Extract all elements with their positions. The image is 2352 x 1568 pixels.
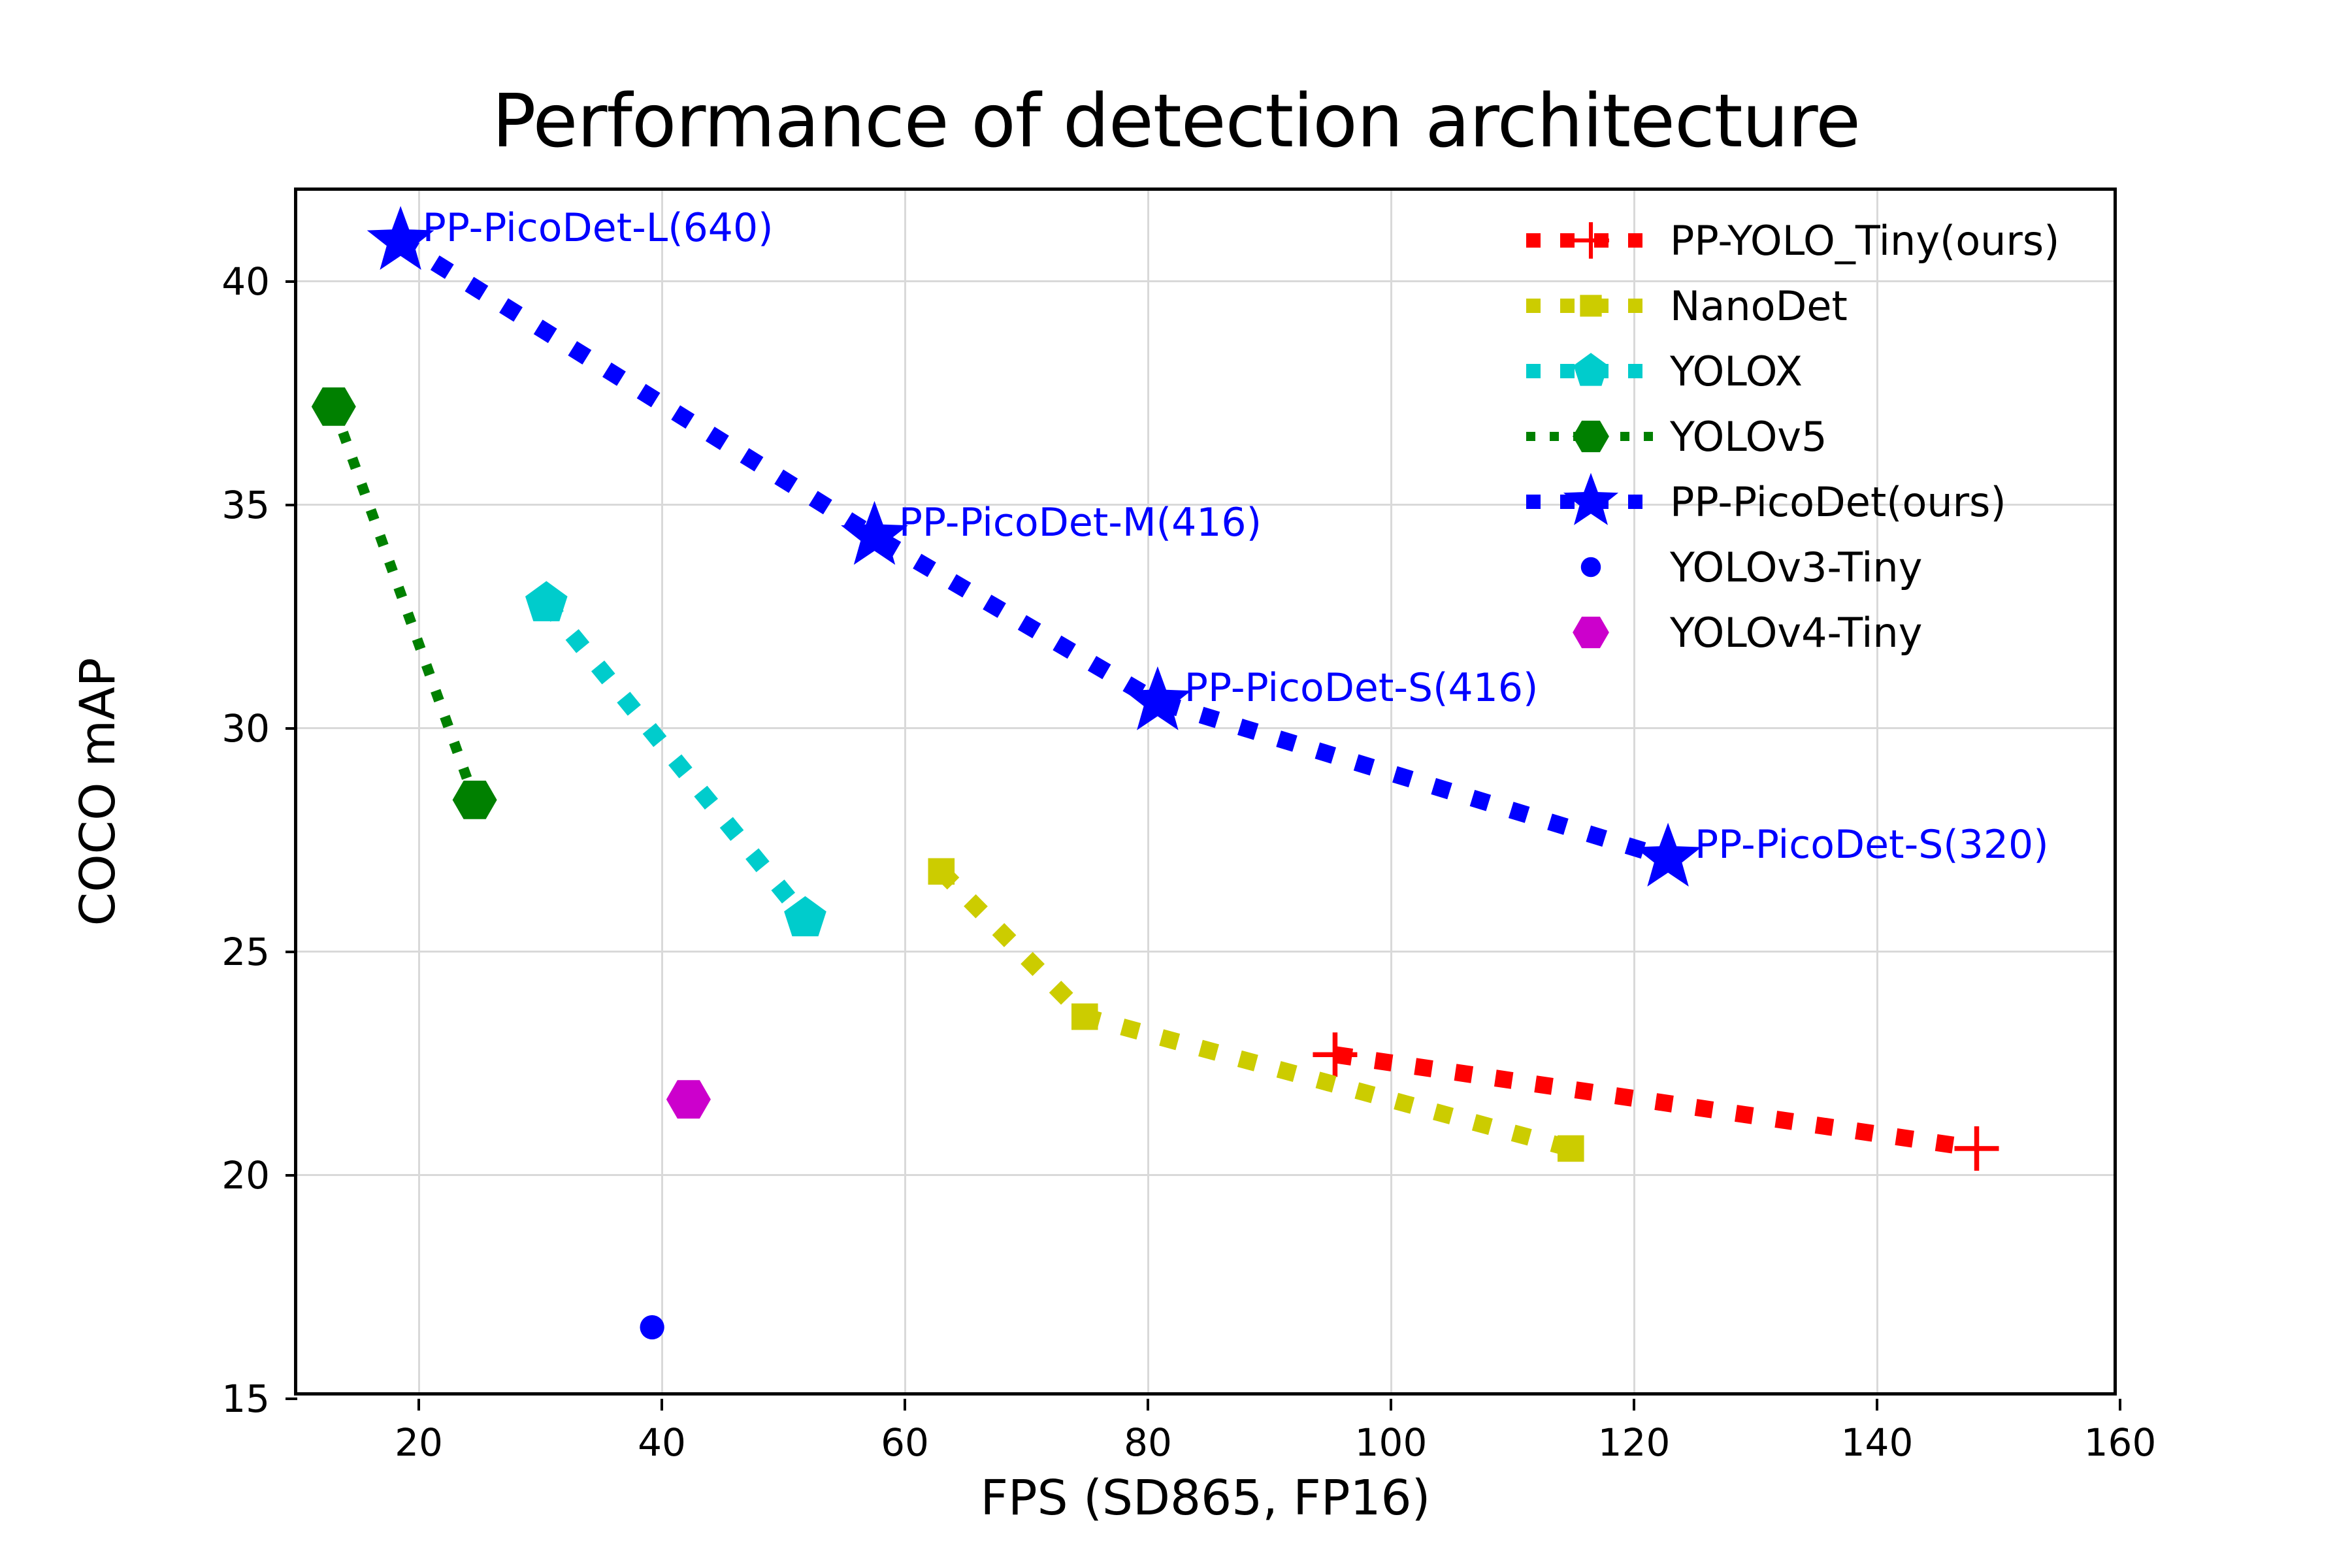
y-tick-label: 20	[221, 1153, 270, 1198]
y-tick-label: 25	[221, 930, 270, 974]
legend-marker-icon	[1522, 600, 1659, 665]
series-line	[400, 241, 1668, 858]
x-tick-mark	[417, 1399, 420, 1411]
data-point[interactable]	[1313, 1032, 1357, 1077]
series-yolox	[525, 581, 826, 936]
legend-label: YOLOv3-Tiny	[1670, 544, 1922, 591]
x-tick-mark	[904, 1399, 906, 1411]
legend-item-yolox[interactable]: YOLOX	[1522, 338, 1803, 404]
legend-marker-icon	[1522, 469, 1659, 534]
x-axis-label: FPS (SD865, FP16)	[294, 1470, 2117, 1526]
legend-marker-icon	[1522, 273, 1659, 338]
x-tick-mark	[661, 1399, 663, 1411]
gridline-vertical	[1390, 191, 1392, 1392]
x-tick-label: 100	[1355, 1420, 1428, 1465]
series-line	[941, 872, 1571, 1149]
chart-figure: Performance of detection architecture FP…	[0, 0, 2352, 1568]
legend-item-pp-yolo-tiny-ours[interactable]: PP-YOLO_Tiny(ours)	[1522, 208, 2059, 273]
y-tick-mark	[286, 951, 297, 953]
x-tick-label: 20	[395, 1420, 443, 1465]
gridline-vertical	[418, 191, 420, 1392]
series-yolov5	[312, 387, 497, 819]
data-point[interactable]	[1955, 1126, 1999, 1171]
x-tick-label: 80	[1124, 1420, 1172, 1465]
legend-label: PP-PicoDet(ours)	[1670, 478, 2006, 526]
series-line	[1335, 1054, 1976, 1149]
y-tick-label: 40	[221, 259, 270, 304]
data-point[interactable]	[928, 858, 955, 885]
legend-marker-icon	[1522, 338, 1659, 404]
series-yolov4-tiny	[666, 1080, 711, 1119]
data-point[interactable]	[453, 781, 497, 819]
x-tick-mark	[1876, 1399, 1878, 1411]
x-tick-label: 60	[881, 1420, 929, 1465]
legend-marker-icon	[1522, 208, 1659, 273]
series-pp-yolo-tiny-ours	[1313, 1032, 1999, 1171]
chart-title: Performance of detection architecture	[0, 85, 2352, 158]
point-annotation: PP-PicoDet-M(416)	[899, 500, 1262, 546]
gridline-vertical	[661, 191, 663, 1392]
gridline-horizontal	[297, 1174, 2114, 1176]
gridline-vertical	[1876, 191, 1878, 1392]
y-tick-label: 15	[221, 1377, 270, 1421]
data-point[interactable]	[1558, 1135, 1584, 1162]
point-annotation: PP-PicoDet-L(640)	[423, 205, 774, 251]
plot-area: 20406080100120140160152025303540 PP-Pico…	[294, 188, 2117, 1396]
x-tick-mark	[2119, 1399, 2121, 1411]
y-tick-mark	[286, 1397, 297, 1400]
y-tick-label: 30	[221, 706, 270, 751]
data-point[interactable]	[525, 581, 568, 621]
data-point[interactable]	[312, 387, 356, 426]
data-point[interactable]	[1071, 1004, 1098, 1030]
x-tick-label: 140	[1841, 1420, 1914, 1465]
data-point[interactable]	[666, 1080, 711, 1119]
y-tick-label: 35	[221, 483, 270, 527]
series-line	[546, 603, 805, 918]
y-tick-mark	[286, 280, 297, 283]
x-tick-label: 120	[1598, 1420, 1671, 1465]
point-annotation: PP-PicoDet-S(416)	[1184, 665, 1539, 711]
y-tick-mark	[286, 504, 297, 506]
gridline-vertical	[1147, 191, 1149, 1392]
legend-item-yolov4-tiny[interactable]: YOLOv4-Tiny	[1522, 600, 1922, 665]
legend-label: YOLOv4-Tiny	[1670, 609, 1922, 657]
legend-label: YOLOX	[1670, 348, 1803, 395]
series-pp-picodet-ours	[367, 206, 1702, 887]
gridline-horizontal	[297, 727, 2114, 729]
x-tick-label: 160	[2084, 1420, 2157, 1465]
series-layer	[297, 191, 2120, 1399]
legend-item-pp-picodet-ours[interactable]: PP-PicoDet(ours)	[1522, 469, 2006, 534]
y-axis-label: COCO mAP	[70, 658, 126, 926]
legend-label: YOLOv5	[1670, 413, 1827, 461]
point-annotation: PP-PicoDet-S(320)	[1695, 822, 2049, 868]
legend-marker-icon	[1522, 404, 1659, 469]
y-tick-mark	[286, 727, 297, 730]
legend-item-yolov5[interactable]: YOLOv5	[1522, 404, 1827, 469]
x-tick-mark	[1147, 1399, 1149, 1411]
y-tick-mark	[286, 1174, 297, 1177]
data-point[interactable]	[1124, 666, 1192, 730]
legend-marker-icon	[1522, 534, 1659, 600]
legend-label: PP-YOLO_Tiny(ours)	[1670, 217, 2059, 265]
series-line	[334, 406, 475, 800]
data-point[interactable]	[784, 896, 826, 937]
series-nanodet	[928, 858, 1584, 1162]
x-tick-label: 40	[638, 1420, 686, 1465]
gridline-vertical	[904, 191, 906, 1392]
legend-item-nanodet[interactable]: NanoDet	[1522, 273, 1848, 338]
x-tick-mark	[1390, 1399, 1392, 1411]
gridline-horizontal	[297, 951, 2114, 953]
legend-label: NanoDet	[1670, 282, 1848, 330]
legend-item-yolov3-tiny[interactable]: YOLOv3-Tiny	[1522, 534, 1922, 600]
data-point[interactable]	[841, 501, 908, 565]
x-tick-mark	[1633, 1399, 1635, 1411]
data-point[interactable]	[1635, 823, 1702, 887]
